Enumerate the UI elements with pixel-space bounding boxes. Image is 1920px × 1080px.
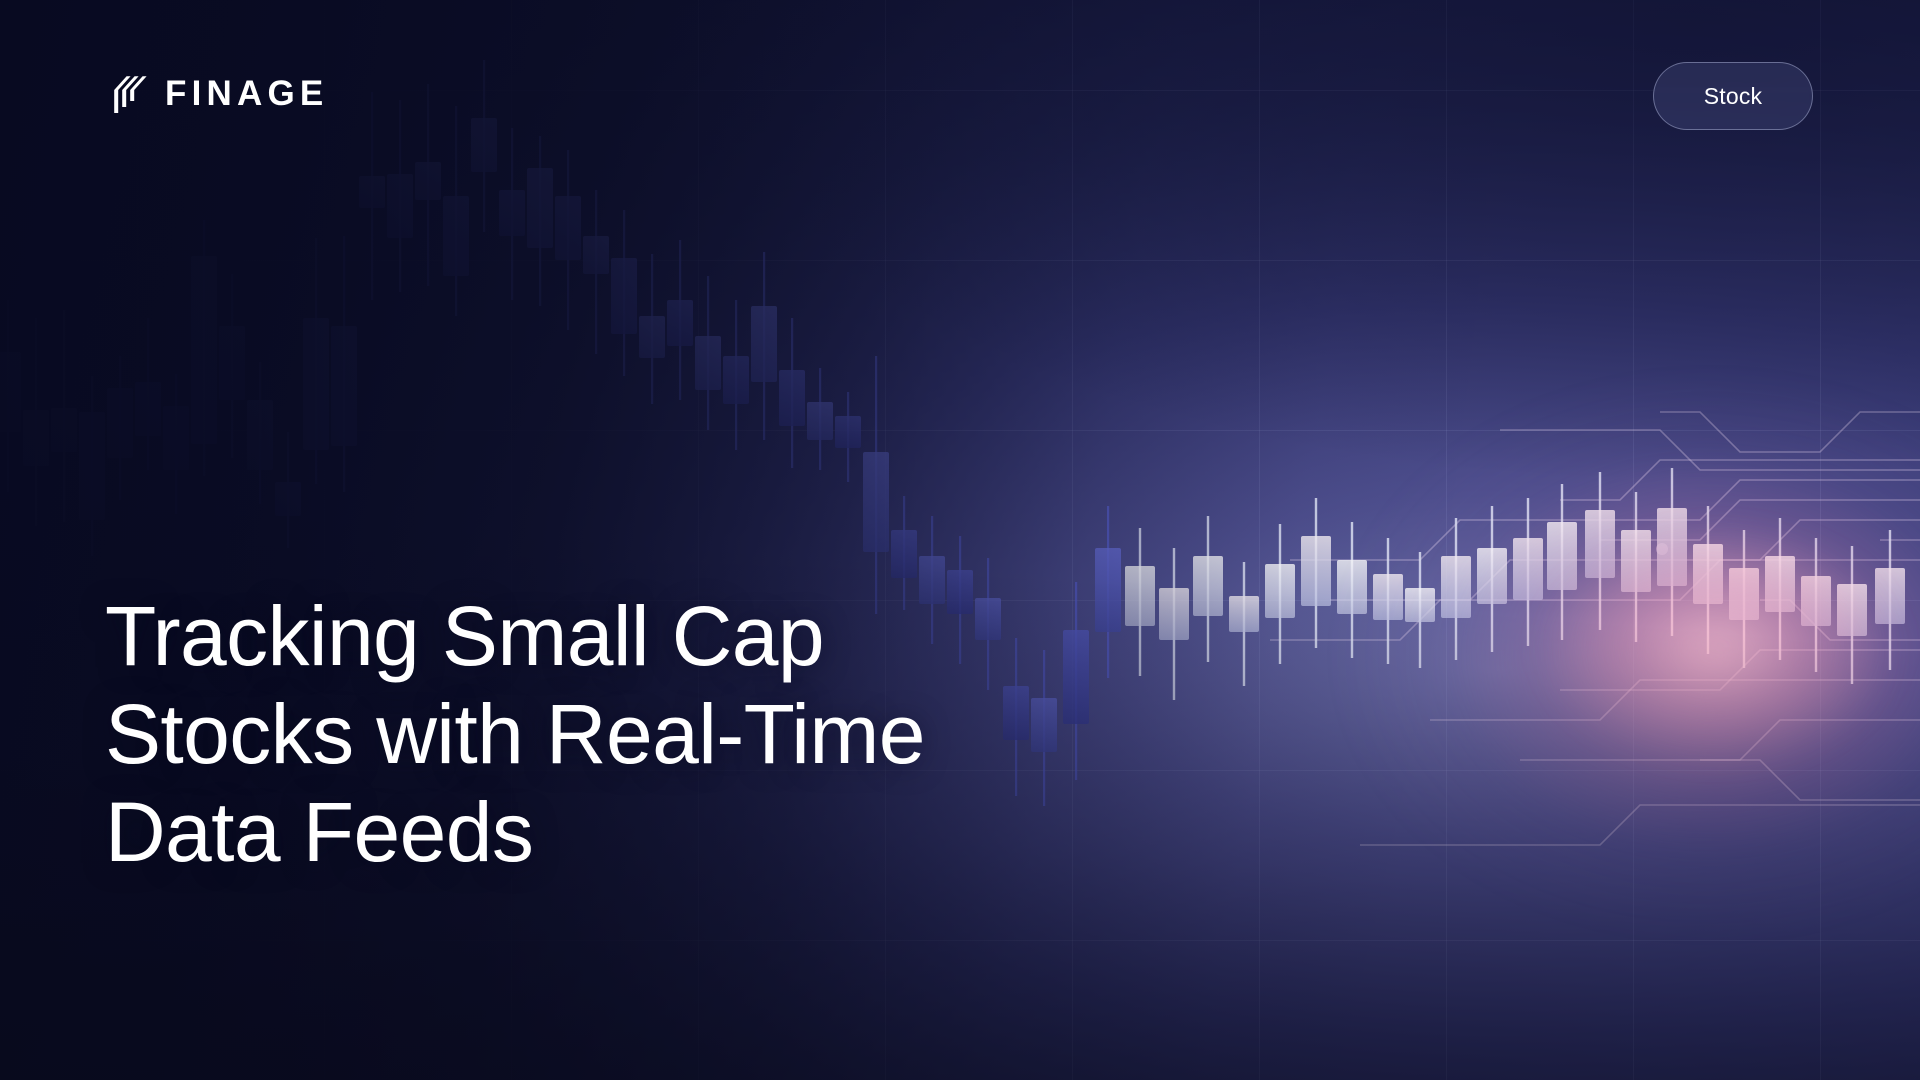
hero-banner: FINAGE Stock Tracking Small CapStocks wi… [0,0,1920,1080]
page-header: FINAGE Stock [0,0,1920,170]
brand-wordmark: FINAGE [165,76,328,111]
finage-chevrons-icon [108,72,148,115]
brand-logo[interactable]: FINAGE [108,72,328,115]
page-title-line-3: Data Feeds [105,784,925,882]
page-title: Tracking Small CapStocks with Real-TimeD… [105,588,925,882]
category-badge-stock[interactable]: Stock [1653,62,1813,130]
page-title-line-1: Tracking Small Cap [105,588,925,686]
category-badge-label: Stock [1704,83,1763,110]
page-title-line-2: Stocks with Real-Time [105,686,925,784]
